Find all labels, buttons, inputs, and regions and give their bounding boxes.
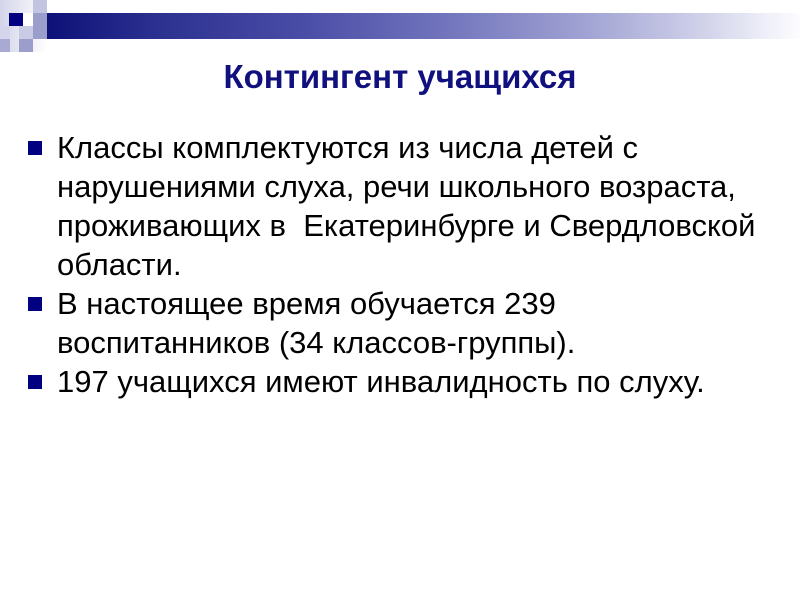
list-item: В настоящее время обучается 239 воспитан…	[28, 284, 772, 362]
gradient-accent-bar	[47, 13, 800, 39]
list-item-text: В настоящее время обучается 239 воспитан…	[57, 284, 772, 362]
square-bullet-icon	[28, 141, 42, 155]
checker-square	[33, 13, 47, 26]
bullet-list: Классы комплектуются из числа детей с на…	[28, 128, 772, 401]
square-bullet-icon	[28, 375, 42, 389]
list-item-text: Классы комплектуются из числа детей с на…	[57, 128, 772, 284]
square-bullet-icon	[28, 297, 42, 311]
checker-square	[9, 13, 23, 26]
checker-square	[19, 39, 33, 52]
checker-square	[19, 26, 33, 39]
checker-square	[0, 26, 10, 39]
checker-square	[33, 0, 47, 13]
page-title: Контингент учащихся	[0, 57, 800, 97]
checker-square	[33, 26, 47, 39]
list-item: 197 учащихся имеют инвалидность по слуху…	[28, 362, 772, 401]
checker-square	[0, 39, 10, 52]
list-item: Классы комплектуются из числа детей с на…	[28, 128, 772, 284]
header-decoration	[0, 0, 800, 55]
list-item-text: 197 учащихся имеют инвалидность по слуху…	[57, 362, 772, 401]
slide-canvas: Контингент учащихся Классы комплектуются…	[0, 0, 800, 600]
